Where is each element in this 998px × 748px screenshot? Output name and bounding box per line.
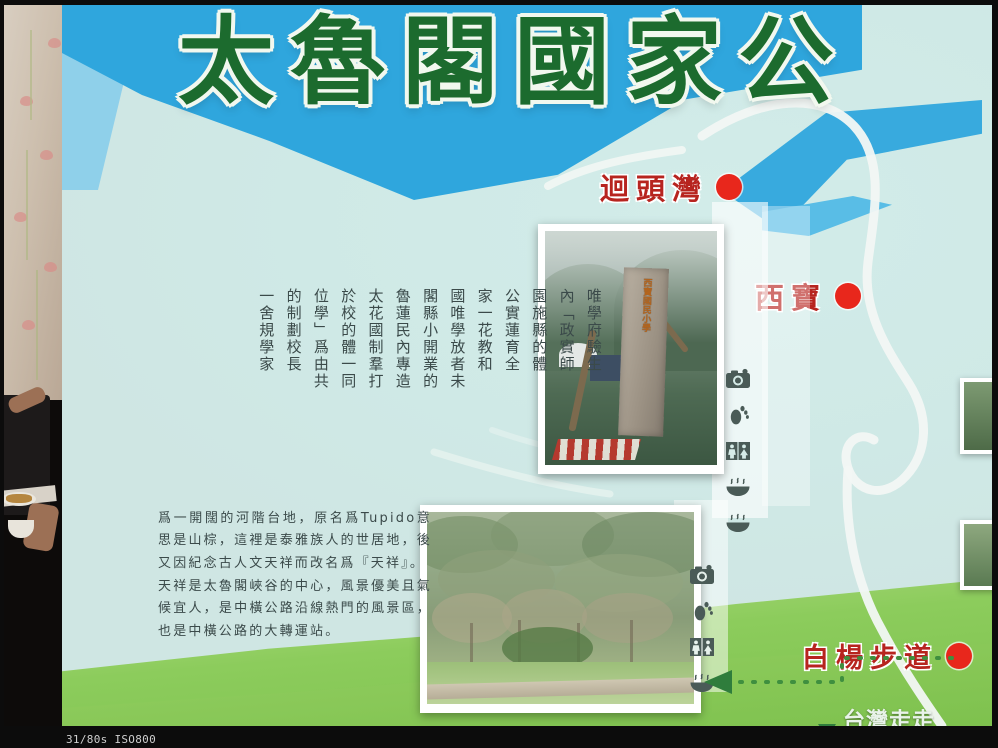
monument-inscription: 西寶國民小學: [639, 278, 650, 332]
frame-left: [0, 0, 4, 748]
vertical-column: 園施縣的體: [527, 288, 551, 390]
camera-icon: [689, 564, 715, 586]
stone-monument: 西寶國民小學: [618, 268, 669, 438]
screenshot-root: 太 魯 閣 國 家 公 迴頭灣 西寶 白楊步道: [0, 0, 998, 748]
floral-pattern: [0, 0, 62, 415]
vertical-column: 唯學府驗生: [582, 288, 606, 390]
vertical-column: 國唯學放者未: [445, 288, 469, 390]
place-name: 迴頭灣: [600, 166, 708, 208]
camera-icon: [725, 368, 751, 390]
restroom-icon: [725, 440, 751, 462]
vertical-column: 位學」爲由共: [309, 288, 333, 390]
paragraph-text: 爲一開闊的河階台地，原名爲Tupido意思是山棕，這裡是泰雅族人的世居地，後又因…: [132, 508, 432, 575]
food: [6, 494, 32, 503]
title-char-3: 閣: [402, 14, 498, 110]
footprint-icon: [689, 600, 715, 622]
hot-meal-icon: [725, 512, 751, 534]
vertical-column: 家一花教和: [472, 288, 496, 390]
frame-right: [992, 0, 998, 748]
footprint-icon: [725, 404, 751, 426]
paragraph-tianxiang-origin: 爲一開闊的河階台地，原名爲Tupido意思是山棕，這裡是泰雅族人的世居地，後又因…: [132, 508, 432, 575]
photo-tianxiang-orchard: [420, 505, 701, 713]
title-char-4: 國: [514, 14, 610, 110]
title-char-1: 太: [178, 14, 274, 110]
exif-info: 31/80s ISO800: [66, 733, 156, 746]
information-board: 太 魯 閣 國 家 公 迴頭灣 西寶 白楊步道: [62, 0, 998, 732]
title-char-5: 家: [626, 14, 722, 110]
vertical-column: 太花國制羣打: [363, 288, 387, 390]
paragraph-tianxiang-description: 天祥是太魯閣峽谷的中心，風景優美且氣候宜人，是中橫公路沿線熱門的風景區，也是中橫…: [132, 576, 432, 643]
vertical-column: 於校的體一同: [336, 288, 360, 390]
vertical-column: 魯蓮民內專造: [390, 288, 414, 390]
vertical-column: 一舍規學家: [254, 288, 278, 390]
red-dot-marker-icon: [835, 283, 861, 309]
paragraph-text: 天祥是太魯閣峽谷的中心，風景優美且氣候宜人，是中橫公路沿線熱門的風景區，也是中橫…: [132, 576, 432, 643]
red-dot-marker-icon: [716, 174, 742, 200]
trail-arrow: [662, 648, 962, 704]
vertical-column: 內「政實師: [554, 288, 578, 390]
vertical-column: 的制劃校長: [281, 288, 305, 390]
facility-icons-xibao: [725, 368, 751, 534]
title-char-6: 公: [738, 14, 834, 110]
hot-meal-icon: [725, 476, 751, 498]
board-title: 太 魯 閣 國 家 公: [178, 14, 834, 110]
title-char-2: 魯: [290, 14, 386, 110]
vertical-text-block: 唯學府驗生 內「政實師 園施縣的體 公實蓮育全 家一花教和 國唯學放者未 閣縣小…: [254, 288, 606, 390]
frame-top: [0, 0, 998, 5]
vertical-column: 閣縣小開業的: [418, 288, 442, 390]
background-restaurant-scene: [0, 0, 62, 748]
vertical-column: 公實蓮育全: [500, 288, 524, 390]
icon-panel-backing-2: [762, 206, 810, 506]
